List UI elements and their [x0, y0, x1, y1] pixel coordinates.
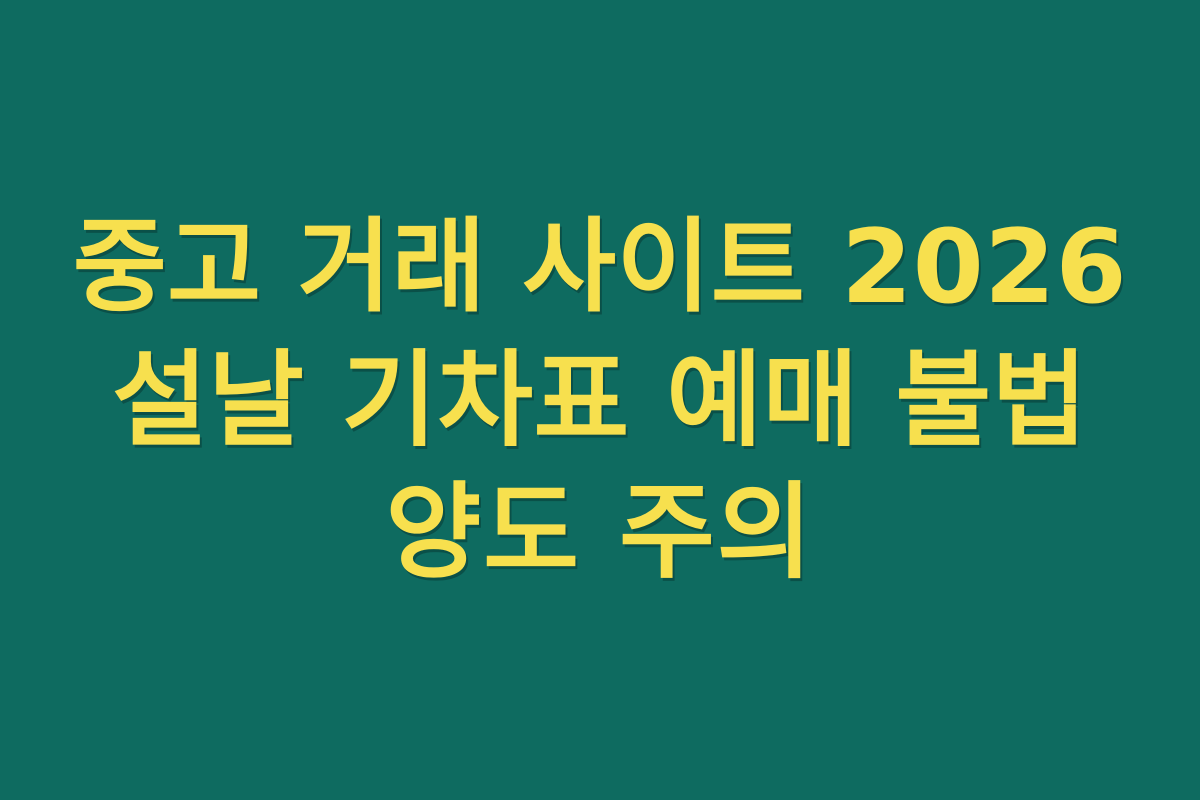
banner-title-line-1: 중고 거래 사이트 2026	[70, 202, 1130, 334]
banner-title-line-2: 설날 기차표 예매 불법	[70, 334, 1130, 466]
banner-title-line-3: 양도 주의	[70, 466, 1130, 598]
banner-canvas: 중고 거래 사이트 2026 설날 기차표 예매 불법 양도 주의	[0, 0, 1200, 800]
banner-title: 중고 거래 사이트 2026 설날 기차표 예매 불법 양도 주의	[70, 202, 1130, 598]
